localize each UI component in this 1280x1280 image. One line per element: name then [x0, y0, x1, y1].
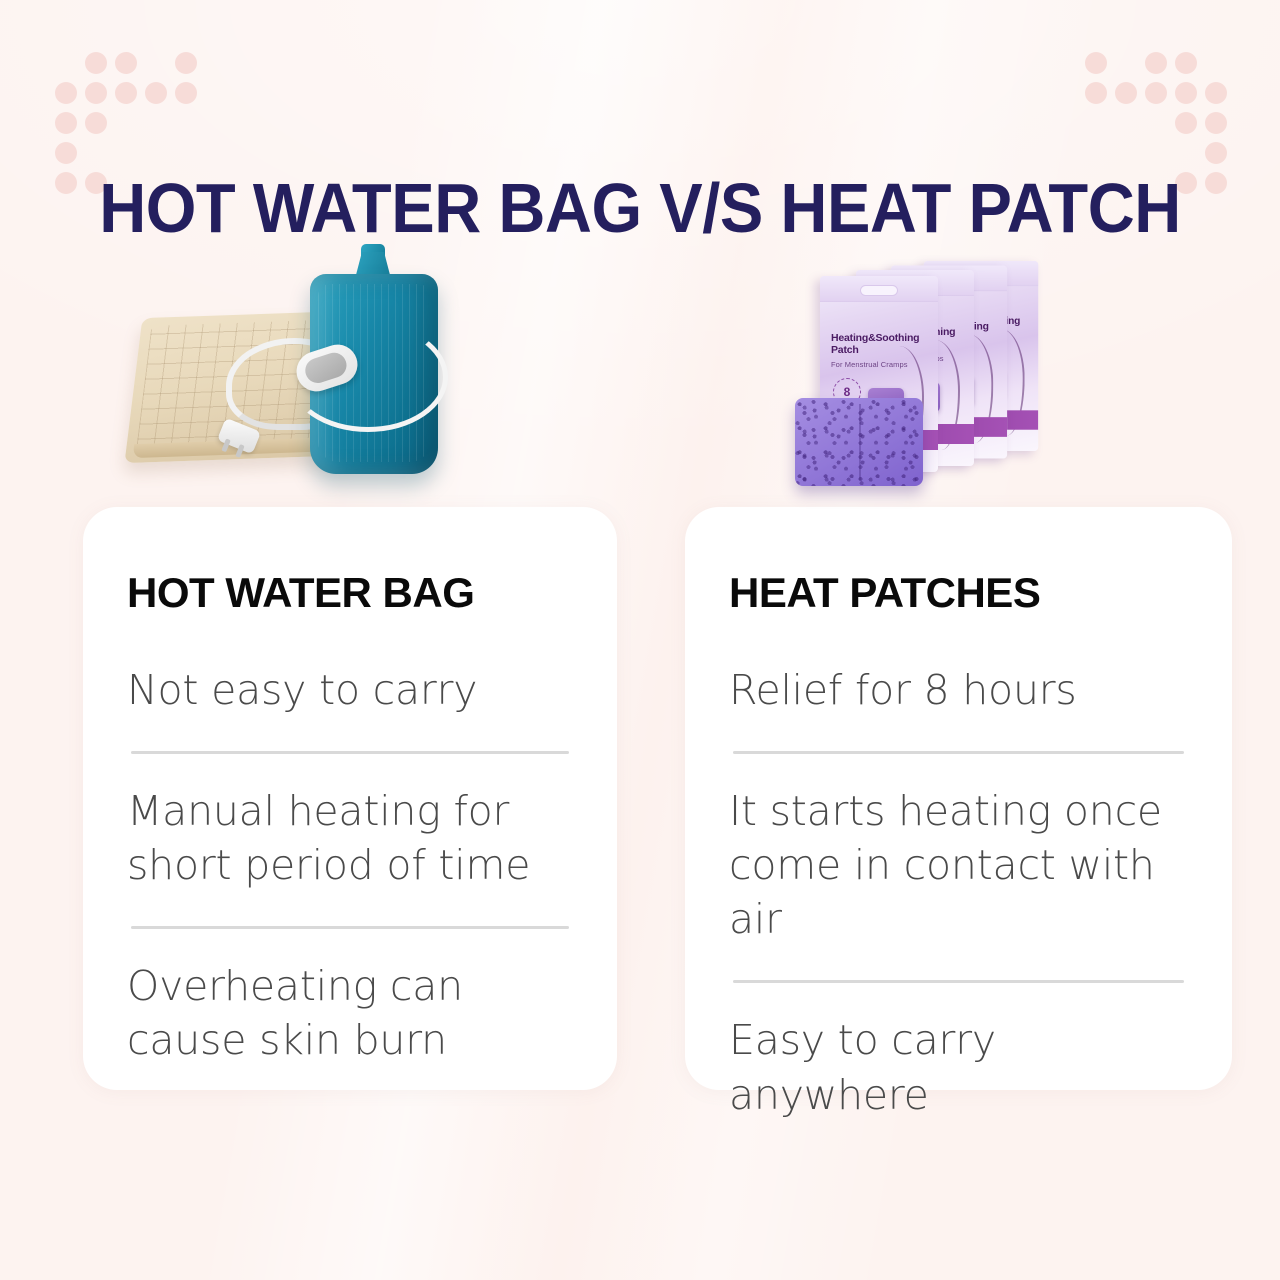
decorative-dot [175, 52, 197, 74]
heat-patch-product-image: Heating&Soothing Patch Heating&Soothing … [790, 258, 1090, 493]
feature-item: Not easy to carry [127, 663, 573, 717]
feature-divider [131, 926, 569, 929]
feature-item: Easy to carry anywhere [729, 1013, 1188, 1121]
decorative-dot [1145, 82, 1167, 104]
packet-title: Heating&Soothing Patch [831, 332, 929, 357]
decorative-dot [175, 82, 197, 104]
feature-divider [131, 751, 569, 754]
purple-heat-patch [795, 398, 923, 486]
feature-item: Relief for 8 hours [729, 663, 1188, 717]
decorative-dot [115, 52, 137, 74]
card-heading: HEAT PATCHES [729, 569, 1188, 617]
decorative-dot [1205, 112, 1227, 134]
decorative-dot [1145, 52, 1167, 74]
decorative-dot [1085, 52, 1107, 74]
feature-item: Manual heating for short period of time [127, 784, 573, 892]
decorative-dot [85, 52, 107, 74]
decorative-dot [55, 82, 77, 104]
card-heading: HOT WATER BAG [127, 569, 573, 617]
comparison-card-heat-patches: HEAT PATCHES Relief for 8 hours It start… [685, 507, 1232, 1090]
decorative-dot [1205, 142, 1227, 164]
decorative-dot [115, 82, 137, 104]
decorative-dot [1085, 82, 1107, 104]
feature-divider [733, 751, 1184, 754]
decorative-dot [85, 112, 107, 134]
comparison-card-hot-water-bag: HOT WATER BAG Not easy to carry Manual h… [83, 507, 617, 1090]
decorative-dot [55, 142, 77, 164]
packet-notch [860, 285, 898, 296]
decorative-dot [1205, 82, 1227, 104]
decorative-dot [1115, 82, 1137, 104]
feature-item: It starts heating once come in contact w… [729, 784, 1188, 946]
decorative-dot [1175, 82, 1197, 104]
decorative-dot [145, 82, 167, 104]
feature-divider [733, 980, 1184, 983]
dot-grid-left-icon [55, 52, 225, 187]
dot-grid-right-icon [1085, 52, 1255, 187]
decorative-dot [85, 82, 107, 104]
packet-subtitle: For Menstrual Cramps [831, 360, 929, 369]
decorative-dot [1175, 52, 1197, 74]
page-title: HOT WATER BAG V/S HEAT PATCH [45, 168, 1235, 248]
decorative-dot [1175, 112, 1197, 134]
hot-water-bag-product-image [128, 252, 488, 492]
feature-item: Overheating can cause skin burn [127, 959, 573, 1067]
decorative-dot [55, 112, 77, 134]
